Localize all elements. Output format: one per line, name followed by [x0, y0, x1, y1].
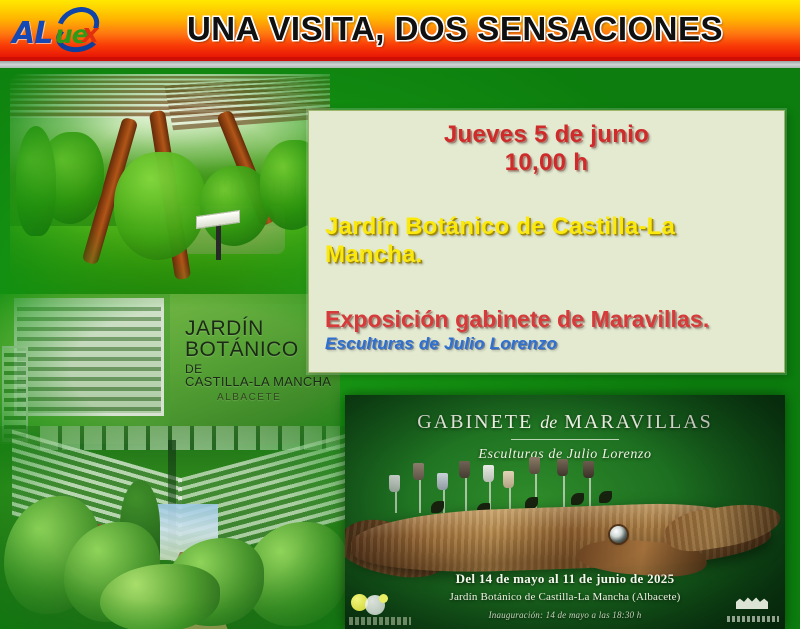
page-title: UNA VISITA, DOS SENSACIONES: [120, 0, 790, 57]
event-exhibition-subtitle: Esculturas de Julio Lorenzo: [325, 334, 768, 354]
crown-icon: [736, 596, 768, 609]
sign-line-region: CASTILLA-LA MANCHA: [185, 375, 340, 388]
sculpture-pin-head: [583, 461, 594, 478]
event-exhibition-title: Exposición gabinete de Maravillas.: [325, 306, 768, 333]
sculpture-pin-head: [459, 461, 470, 478]
building-window: [14, 298, 164, 416]
sculpture-pin-head: [413, 463, 424, 480]
divider-grey: [0, 61, 800, 68]
pergola-slats-right: [164, 75, 330, 130]
sculpture-pin-head: [437, 473, 448, 490]
logo-wordmark: [727, 616, 779, 622]
shrub: [16, 126, 56, 236]
diputacion-albacete-logo: [727, 596, 779, 622]
event-time: 10,00 h: [325, 149, 768, 177]
sculpture-pin-head: [483, 465, 494, 482]
header-banner: AL ue x UNA VISITA, DOS SENSACIONES: [0, 0, 800, 57]
poster-divider-rule: [511, 439, 619, 440]
event-venue: Jardín Botánico de Castilla-La Mancha.: [325, 213, 768, 271]
content-area: JARDÍN BOTÁNICO DE CASTILLA-LA MANCHA AL…: [0, 68, 800, 629]
aluex-logo: AL ue x: [6, 6, 106, 52]
event-datetime: Jueves 5 de junio 10,00 h: [325, 121, 768, 178]
jardin-botanico-logo: [349, 585, 413, 625]
exhibition-poster: GABINETE de MARAVILLAS Esculturas de Jul…: [345, 395, 785, 629]
sculpture-pin-head: [503, 471, 514, 488]
sculpture-pin-head: [389, 475, 400, 492]
sculpture-eye: [610, 526, 627, 543]
event-info-panel: Jueves 5 de junio 10,00 h Jardín Botánic…: [308, 110, 785, 373]
logo-text-x: x: [82, 19, 99, 49]
sculpture-pin-head: [529, 457, 540, 474]
garden-info-post: [216, 222, 221, 260]
photo-entrance-sign: JARDÍN BOTÁNICO DE CASTILLA-LA MANCHA AL…: [0, 294, 340, 444]
poster-title-de: de: [540, 412, 557, 432]
poster-title-part2: MARAVILLAS: [564, 411, 713, 433]
photo-pergola-garden: [10, 74, 330, 304]
sculpture-pin-group: [385, 457, 615, 513]
sculpture-pin-head: [557, 459, 568, 476]
photo-greenhouse-interior: [0, 426, 350, 629]
sign-line-albacete: ALBACETE: [217, 393, 340, 403]
logo-text-al: AL: [12, 16, 52, 51]
event-date: Jueves 5 de junio: [325, 121, 768, 149]
poster-title: GABINETE de MARAVILLAS: [345, 411, 785, 434]
logo-wordmark: [349, 617, 411, 625]
logo-circle-icon: [379, 594, 388, 603]
poster-title-part1: GABINETE: [417, 411, 533, 433]
promotional-flyer: AL ue x UNA VISITA, DOS SENSACIONES: [0, 0, 800, 629]
